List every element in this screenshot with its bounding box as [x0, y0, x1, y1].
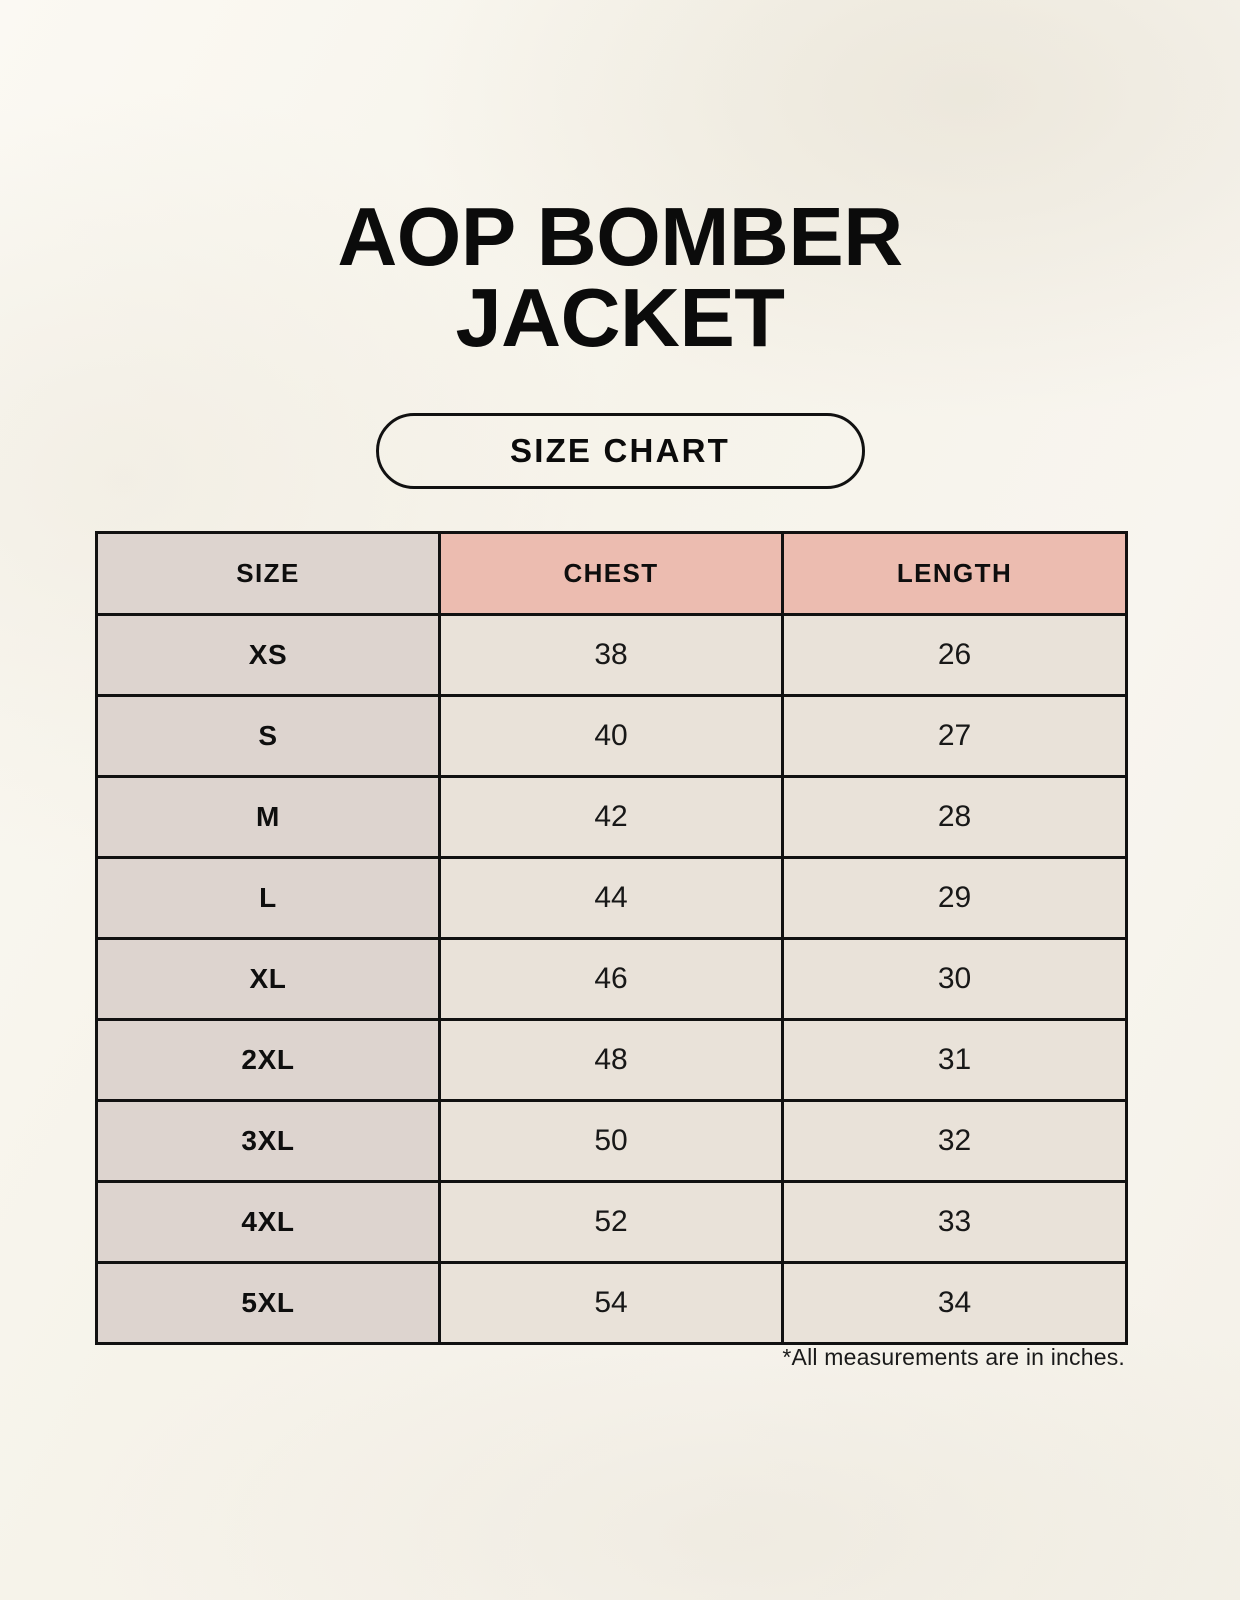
cell-chest: 48 [440, 1020, 783, 1101]
cell-chest: 50 [440, 1101, 783, 1182]
column-header-chest: CHEST [440, 533, 783, 615]
table-row: 3XL 50 32 [97, 1101, 1127, 1182]
cell-chest: 38 [440, 615, 783, 696]
cell-length: 31 [783, 1020, 1127, 1101]
title-line-1: AOP BOMBER [0, 196, 1240, 277]
cell-chest: 44 [440, 858, 783, 939]
cell-size: M [97, 777, 440, 858]
cell-chest: 54 [440, 1263, 783, 1344]
table-row: XS 38 26 [97, 615, 1127, 696]
title-line-2: JACKET [0, 277, 1240, 358]
cell-size: XL [97, 939, 440, 1020]
cell-size: 3XL [97, 1101, 440, 1182]
cell-chest: 40 [440, 696, 783, 777]
size-table-body: XS 38 26 S 40 27 M 42 28 L 44 29 [97, 615, 1127, 1344]
cell-size: L [97, 858, 440, 939]
cell-size: 4XL [97, 1182, 440, 1263]
table-row: M 42 28 [97, 777, 1127, 858]
table-row: XL 46 30 [97, 939, 1127, 1020]
cell-size: 2XL [97, 1020, 440, 1101]
size-chart-badge: SIZE CHART [376, 413, 865, 489]
size-chart-page: AOP BOMBER JACKET SIZE CHART SIZE CHEST … [0, 0, 1240, 1600]
measurement-note: *All measurements are in inches. [95, 1344, 1125, 1371]
size-table-head: SIZE CHEST LENGTH [97, 533, 1127, 615]
cell-length: 28 [783, 777, 1127, 858]
column-header-size: SIZE [97, 533, 440, 615]
cell-length: 26 [783, 615, 1127, 696]
size-table: SIZE CHEST LENGTH XS 38 26 S 40 27 M [95, 531, 1128, 1345]
table-row: 4XL 52 33 [97, 1182, 1127, 1263]
size-chart-badge-wrap: SIZE CHART [0, 413, 1240, 489]
table-row: 2XL 48 31 [97, 1020, 1127, 1101]
cell-length: 32 [783, 1101, 1127, 1182]
cell-chest: 46 [440, 939, 783, 1020]
cell-size: XS [97, 615, 440, 696]
cell-length: 33 [783, 1182, 1127, 1263]
cell-size: S [97, 696, 440, 777]
table-row: L 44 29 [97, 858, 1127, 939]
cell-chest: 52 [440, 1182, 783, 1263]
column-header-length: LENGTH [783, 533, 1127, 615]
product-title: AOP BOMBER JACKET [0, 196, 1240, 359]
cell-length: 30 [783, 939, 1127, 1020]
cell-chest: 42 [440, 777, 783, 858]
size-chart-badge-label: SIZE CHART [510, 432, 730, 470]
page-title: AOP BOMBER JACKET [0, 196, 1240, 359]
cell-length: 29 [783, 858, 1127, 939]
cell-size: 5XL [97, 1263, 440, 1344]
table-row: S 40 27 [97, 696, 1127, 777]
table-header-row: SIZE CHEST LENGTH [97, 533, 1127, 615]
table-row: 5XL 54 34 [97, 1263, 1127, 1344]
size-table-wrap: SIZE CHEST LENGTH XS 38 26 S 40 27 M [95, 531, 1125, 1345]
cell-length: 27 [783, 696, 1127, 777]
cell-length: 34 [783, 1263, 1127, 1344]
